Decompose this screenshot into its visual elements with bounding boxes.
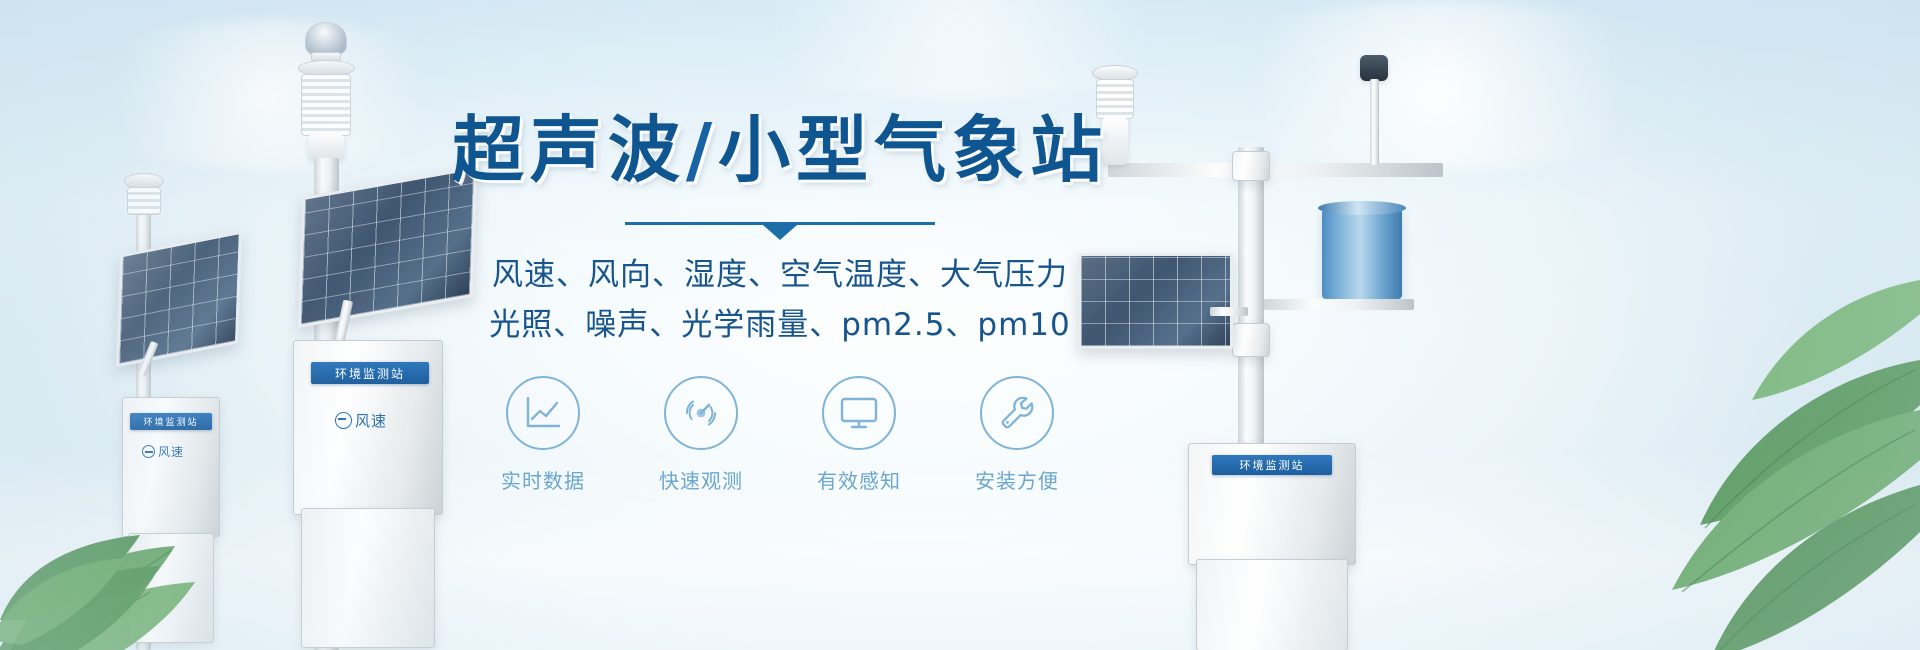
radar-scan-icon bbox=[680, 392, 722, 434]
mast-collar bbox=[1232, 323, 1270, 357]
wrench-icon bbox=[996, 392, 1038, 434]
feature-icon-circle bbox=[664, 376, 738, 450]
product-banner: 环境监测站 风速 环境监测站 风速 bbox=[0, 0, 1920, 650]
sensor-body bbox=[308, 134, 344, 160]
divider-triangle-icon bbox=[763, 225, 797, 240]
solar-panel bbox=[116, 231, 242, 368]
cabinet-lower bbox=[1196, 559, 1348, 650]
feature-icon-circle bbox=[980, 376, 1054, 450]
brand-name: 风速 bbox=[158, 443, 184, 460]
cabinet-brand-tag: 风速 bbox=[335, 410, 387, 431]
anemometer-head bbox=[1360, 55, 1388, 81]
cabinet-label-tag: 环境监测站 bbox=[130, 413, 212, 430]
feature-item-easy-install[interactable]: 安装方便 bbox=[958, 376, 1076, 494]
feature-item-realtime-data[interactable]: 实时数据 bbox=[484, 376, 602, 494]
rain-gauge-rim bbox=[1318, 201, 1406, 215]
rain-gauge bbox=[1322, 207, 1402, 299]
title-part-2: 小型气象站 bbox=[718, 108, 1108, 192]
cabinet-label-tag: 环境监测站 bbox=[1212, 455, 1332, 475]
feature-label: 安装方便 bbox=[975, 465, 1059, 494]
gauge-shelf bbox=[1264, 299, 1414, 310]
radiation-shield bbox=[127, 187, 161, 215]
title-part-1: 超声波 bbox=[452, 108, 686, 192]
cabinet-brand-tag: 风速 bbox=[142, 443, 184, 460]
cabinet-label-tag: 环境监测站 bbox=[311, 362, 429, 384]
feature-icon-circle bbox=[506, 376, 580, 450]
brand-name: 风速 bbox=[355, 410, 387, 431]
feature-icon-circle bbox=[822, 376, 896, 450]
line-chart-icon bbox=[523, 394, 563, 432]
cabinet-lower bbox=[128, 533, 214, 643]
feature-item-fast-observation[interactable]: 快速观测 bbox=[642, 376, 760, 494]
feature-label: 有效感知 bbox=[817, 465, 901, 494]
monitor-icon bbox=[838, 395, 880, 431]
cross-arm bbox=[1108, 163, 1443, 177]
feature-label: 快速观测 bbox=[659, 465, 743, 494]
subtitle-line-2: 光照、噪声、光学雨量、pm2.5、pm10 bbox=[489, 300, 1071, 350]
mast-collar bbox=[1232, 151, 1270, 181]
cabinet-lower bbox=[301, 508, 435, 648]
tropical-leaf-right bbox=[1400, 270, 1920, 650]
panel-support-arm bbox=[1210, 307, 1248, 316]
feature-label: 实时数据 bbox=[501, 465, 585, 494]
page-title: 超声波/小型气象站 bbox=[452, 112, 1108, 190]
subtitle-line-1: 风速、风向、湿度、空气温度、大气压力 bbox=[489, 250, 1071, 300]
title-slash: / bbox=[686, 108, 718, 192]
brand-logo-icon bbox=[335, 412, 352, 429]
anemometer-stem bbox=[1370, 79, 1379, 165]
brand-logo-icon bbox=[142, 445, 155, 458]
sensor-dome bbox=[305, 22, 347, 56]
title-divider bbox=[625, 218, 935, 232]
subtitle-block: 风速、风向、湿度、空气温度、大气压力 光照、噪声、光学雨量、pm2.5、pm10 bbox=[489, 250, 1071, 350]
feature-item-effective-sensing[interactable]: 有效感知 bbox=[800, 376, 918, 494]
feature-list: 实时数据 快速观测 bbox=[484, 376, 1076, 494]
radiation-shield bbox=[301, 74, 351, 136]
banner-content: 超声波/小型气象站 风速、风向、湿度、空气温度、大气压力 光照、噪声、光学雨量、… bbox=[430, 0, 1130, 650]
